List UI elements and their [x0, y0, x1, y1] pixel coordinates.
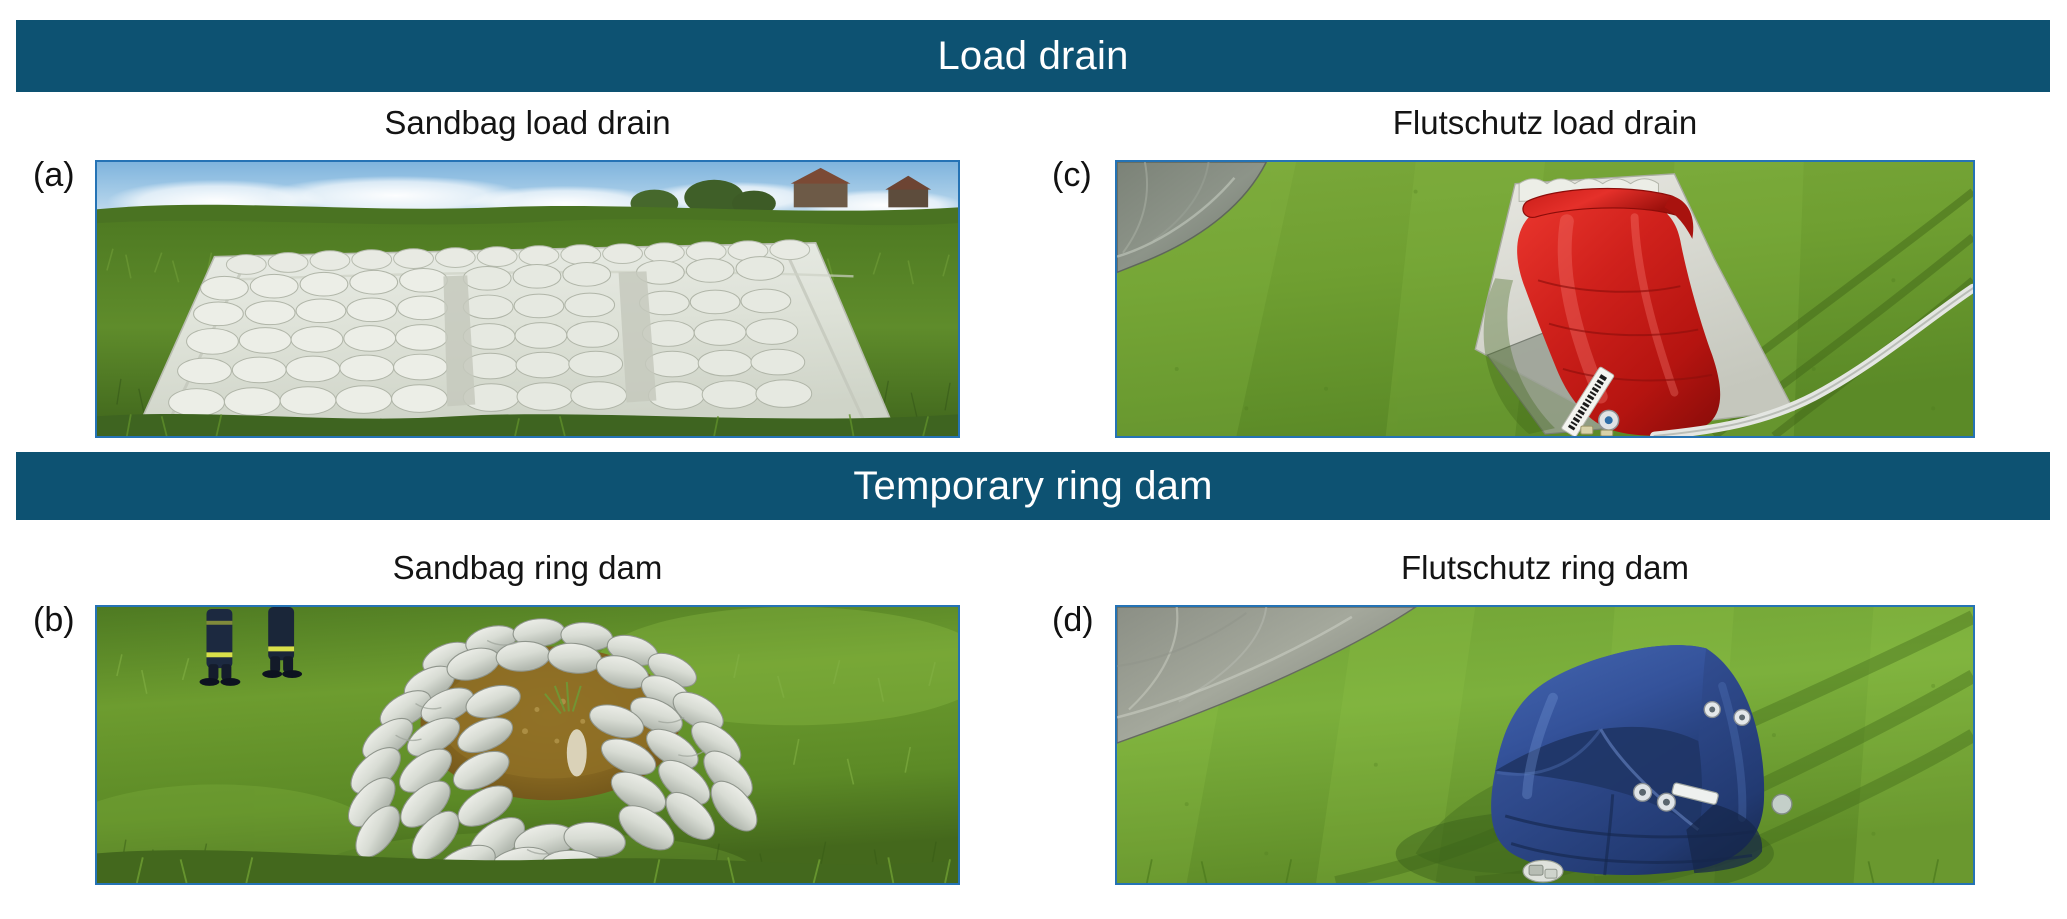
panel-caption-flutschutz-ring-dam: Flutschutz ring dam	[1115, 551, 1975, 584]
section-header-label: Temporary ring dam	[853, 466, 1212, 506]
photo-sandbag-ring-dam	[95, 605, 960, 885]
photo-flutschutz-ring-dam	[1115, 605, 1975, 885]
panel-caption-sandbag-load-drain: Sandbag load drain	[95, 106, 960, 139]
figure-panel-grid: Load drain (a) Sandbag load drain	[0, 0, 2067, 919]
panel-caption-sandbag-ring-dam: Sandbag ring dam	[95, 551, 960, 584]
section-header-load-drain: Load drain	[16, 20, 2050, 92]
photo-flutschutz-load-drain	[1115, 160, 1975, 438]
panel-tag-c: (c)	[1052, 158, 1092, 192]
section-header-temporary-ring-dam: Temporary ring dam	[16, 452, 2050, 520]
panel-tag-a: (a)	[33, 158, 75, 192]
section-header-label: Load drain	[937, 36, 1128, 76]
panel-caption-flutschutz-load-drain: Flutschutz load drain	[1115, 106, 1975, 139]
panel-tag-b: (b)	[33, 603, 75, 637]
photo-sandbag-load-drain	[95, 160, 960, 438]
panel-tag-d: (d)	[1052, 603, 1094, 637]
